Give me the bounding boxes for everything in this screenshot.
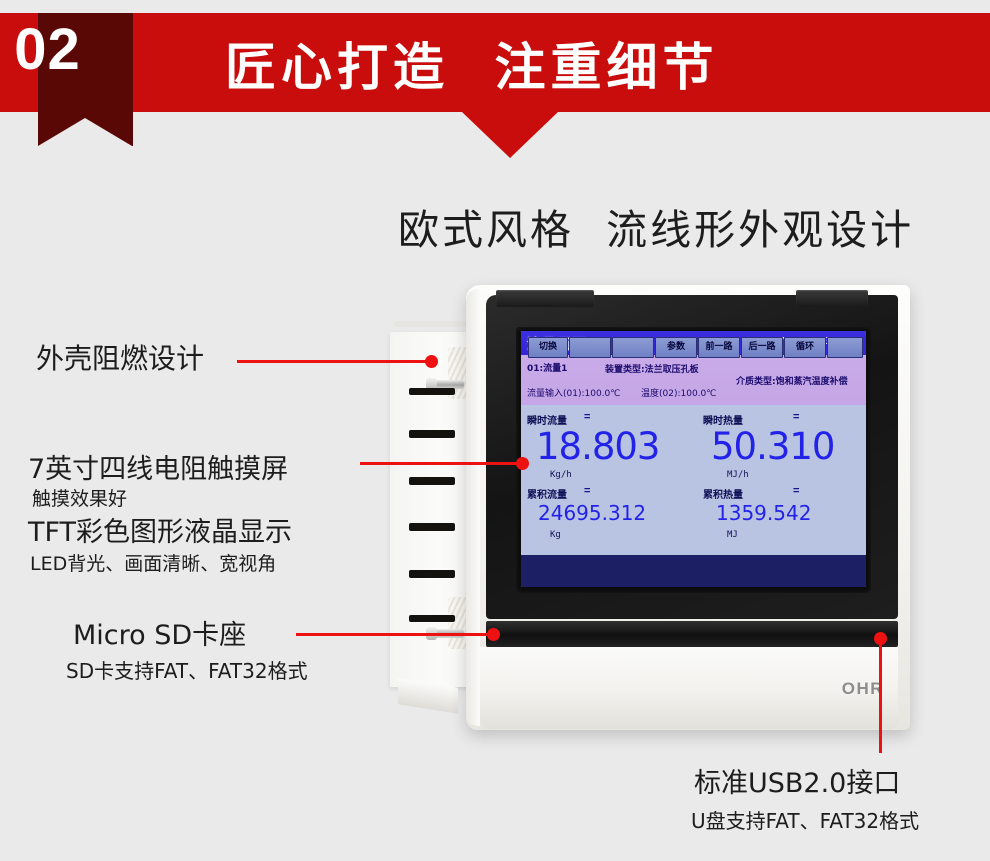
reading-unit-instant-flow: Kg/h [550, 470, 572, 480]
callout-2-title: 7英寸四线电阻触摸屏 [28, 447, 288, 486]
callout-2-leader-line [360, 462, 525, 465]
callout-2-marker-dot [516, 457, 529, 470]
reading-value-instant-flow: 18.803 [536, 428, 659, 465]
reading-unit-instant-heat: MJ/h [727, 470, 749, 480]
callout-1-leader-line [237, 360, 434, 363]
lcd-button-blank-1[interactable] [569, 337, 611, 358]
device-bottom-strip [486, 621, 898, 647]
callout-4-leader-line [879, 638, 882, 753]
banner-notch-triangle [462, 112, 558, 158]
lcd-button-next-channel[interactable]: 后一路 [741, 337, 783, 358]
vent-slot-6 [409, 615, 455, 622]
vent-slot-5 [409, 570, 455, 578]
reading-unit-cumulative-heat: MJ [727, 530, 738, 540]
lcd-info-flow-input: 流量输入(01):100.0℃ [527, 386, 620, 399]
lcd-button-prev-channel[interactable]: 前一路 [698, 337, 740, 358]
lcd-button-bar [521, 555, 866, 587]
callout-2-sub: 触摸效果好 [32, 484, 127, 511]
callout-4-sub: U盘支持FAT、FAT32格式 [691, 805, 919, 834]
lcd-info-device-type: 装置类型:法兰取压孔板 [605, 362, 699, 375]
banner-title: 匠心打造 注重细节 [225, 26, 719, 100]
reading-value-cumulative-heat: 1359.542 [716, 503, 811, 523]
reading-unit-cumulative-flow: Kg [550, 530, 561, 540]
callout-1-title: 外壳阻燃设计 [36, 337, 204, 377]
callout-3-marker-dot [487, 628, 500, 641]
callout-4-title: 标准USB2.0接口 [694, 761, 900, 800]
vent-slot-1 [409, 388, 455, 395]
lcd-button-cycle[interactable]: 循环 [784, 337, 826, 358]
vent-slot-3 [409, 477, 455, 485]
usb-port-slot[interactable] [796, 290, 868, 307]
callout-3-leader-line [296, 633, 496, 636]
lcd-button-switch[interactable]: 切换 [528, 337, 568, 358]
lcd-button-params[interactable]: 参数 [655, 337, 697, 358]
callout-1-marker-dot [425, 355, 438, 368]
lcd-button-blank-2[interactable] [612, 337, 654, 358]
vent-slot-2 [409, 430, 455, 438]
reading-eq-cumulative-heat: = [793, 485, 798, 497]
device-front-left-edge [466, 289, 480, 726]
reading-value-cumulative-flow: 24695.312 [538, 503, 646, 523]
callout-2-title-2: TFT彩色图形液晶显示 [28, 510, 292, 549]
callout-4-marker-dot [874, 632, 887, 645]
page-subtitle: 欧式风格 流线形外观设计 [398, 196, 914, 256]
brand-logo: OHR [842, 679, 884, 699]
callout-3-sub: SD卡支持FAT、FAT32格式 [66, 655, 308, 684]
sd-card-slot[interactable] [496, 290, 594, 307]
reading-eq-cumulative-flow: = [584, 485, 589, 497]
section-number: 02 [0, 16, 95, 83]
reading-value-instant-heat: 50.310 [711, 428, 834, 465]
lcd-info-temperature: 温度(02):100.0℃ [641, 386, 716, 399]
callout-2-sub-2: LED背光、画面清晰、宽视角 [30, 549, 276, 576]
reading-eq-instant-flow: = [584, 411, 589, 423]
reading-label-cumulative-heat: 累积热量 [703, 486, 743, 501]
reading-eq-instant-heat: = [793, 411, 798, 423]
lcd-button-blank-3[interactable] [827, 337, 863, 358]
device-photo: 流量画面 ▤ 2017-08-04 23:28:14 01:流量1 装置类型:法… [390, 285, 910, 730]
reading-label-cumulative-flow: 累积流量 [527, 486, 567, 501]
lcd-info-channel: 01:流量1 [527, 361, 567, 374]
lcd-info-medium-type: 介质类型:饱和蒸汽温度补偿 [736, 374, 848, 387]
vent-slot-4 [409, 523, 455, 531]
lcd-screen[interactable]: 流量画面 ▤ 2017-08-04 23:28:14 01:流量1 装置类型:法… [521, 331, 866, 587]
callout-3-title: Micro SD卡座 [73, 613, 246, 652]
device-lower-panel [480, 647, 898, 729]
